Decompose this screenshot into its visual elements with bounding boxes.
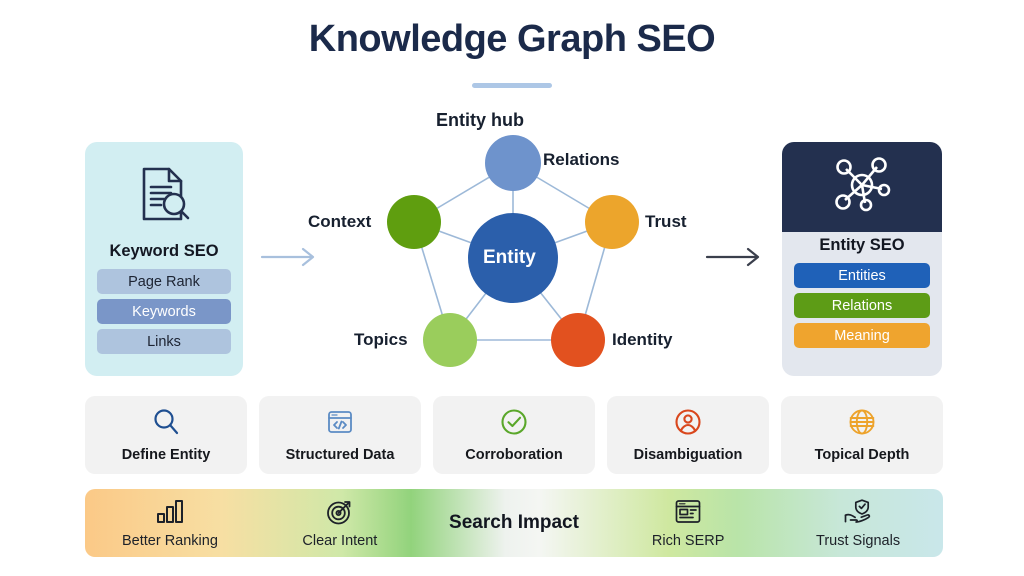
feature-label: Corroboration: [465, 447, 562, 463]
impact-title: Search Impact: [425, 512, 603, 534]
impact-item-clear-intent: Clear Intent: [255, 498, 425, 549]
pill-label: Links: [147, 334, 181, 350]
hub-node-identity: [551, 313, 605, 367]
pill-relations[interactable]: Relations: [794, 293, 930, 318]
feature-card-disambiguation[interactable]: Disambiguation: [607, 396, 769, 474]
hub-label-trust: Trust: [645, 212, 687, 232]
knowledge-graph-network-icon: [831, 156, 893, 219]
target-dart-icon: [325, 498, 355, 531]
code-window-icon: [325, 407, 355, 442]
hub-label-context: Context: [308, 212, 371, 232]
page-title: Knowledge Graph SEO: [0, 18, 1024, 61]
entity-hub-diagram: Entity hub Relations Trust Identity Topi…: [280, 100, 750, 385]
title-underline: [472, 83, 552, 88]
pill-label: Page Rank: [128, 274, 200, 290]
document-search-icon: [85, 142, 243, 238]
user-circle-icon: [673, 407, 703, 442]
hub-label-topics: Topics: [354, 330, 408, 350]
pill-label: Entities: [838, 268, 886, 284]
feature-card-define-entity[interactable]: Define Entity: [85, 396, 247, 474]
feature-label: Structured Data: [286, 447, 395, 463]
feature-label: Disambiguation: [634, 447, 743, 463]
globe-icon: [847, 407, 877, 442]
entity-seo-card: Entity SEO Entities Relations Meaning: [782, 142, 942, 376]
hand-shield-icon: [842, 498, 874, 531]
pill-label: Relations: [832, 298, 892, 314]
hub-node-trust: [585, 195, 639, 249]
impact-label: Trust Signals: [816, 533, 900, 549]
impact-label: Rich SERP: [652, 533, 725, 549]
hub-label-identity: Identity: [612, 330, 672, 350]
impact-item-better-ranking: Better Ranking: [85, 498, 255, 549]
impact-item-rich-serp: Rich SERP: [603, 498, 773, 549]
serp-window-icon: [673, 498, 703, 531]
bar-chart-icon: [154, 498, 186, 531]
search-impact-bar: Better Ranking Clear Intent Search Impac…: [85, 489, 943, 557]
impact-label: Better Ranking: [122, 533, 218, 549]
feature-label: Define Entity: [122, 447, 211, 463]
pill-links[interactable]: Links: [97, 329, 231, 354]
pill-label: Meaning: [834, 328, 890, 344]
keyword-card-title: Keyword SEO: [85, 242, 243, 261]
check-circle-icon: [499, 407, 529, 442]
impact-item-trust-signals: Trust Signals: [773, 498, 943, 549]
feature-card-row: Define Entity Structured Data Corroborat…: [85, 396, 943, 474]
magnifier-icon: [151, 407, 181, 442]
pill-entities[interactable]: Entities: [794, 263, 930, 288]
pill-page-rank[interactable]: Page Rank: [97, 269, 231, 294]
feature-card-corroboration[interactable]: Corroboration: [433, 396, 595, 474]
hub-node-relations: [485, 135, 541, 191]
hub-label-relations: Relations: [543, 150, 620, 170]
hub-label-entity: Entity: [483, 247, 536, 269]
impact-label: Clear Intent: [302, 533, 377, 549]
pill-meaning[interactable]: Meaning: [794, 323, 930, 348]
keyword-seo-card: Keyword SEO Page Rank Keywords Links: [85, 142, 243, 376]
feature-card-topical-depth[interactable]: Topical Depth: [781, 396, 943, 474]
hub-node-context: [387, 195, 441, 249]
feature-card-structured-data[interactable]: Structured Data: [259, 396, 421, 474]
entity-card-header: [782, 142, 942, 232]
feature-label: Topical Depth: [815, 447, 910, 463]
hub-node-topics: [423, 313, 477, 367]
entity-card-title: Entity SEO: [782, 236, 942, 255]
pill-label: Keywords: [132, 304, 196, 320]
pill-keywords[interactable]: Keywords: [97, 299, 231, 324]
hub-caption-entity-hub: Entity hub: [436, 110, 524, 131]
